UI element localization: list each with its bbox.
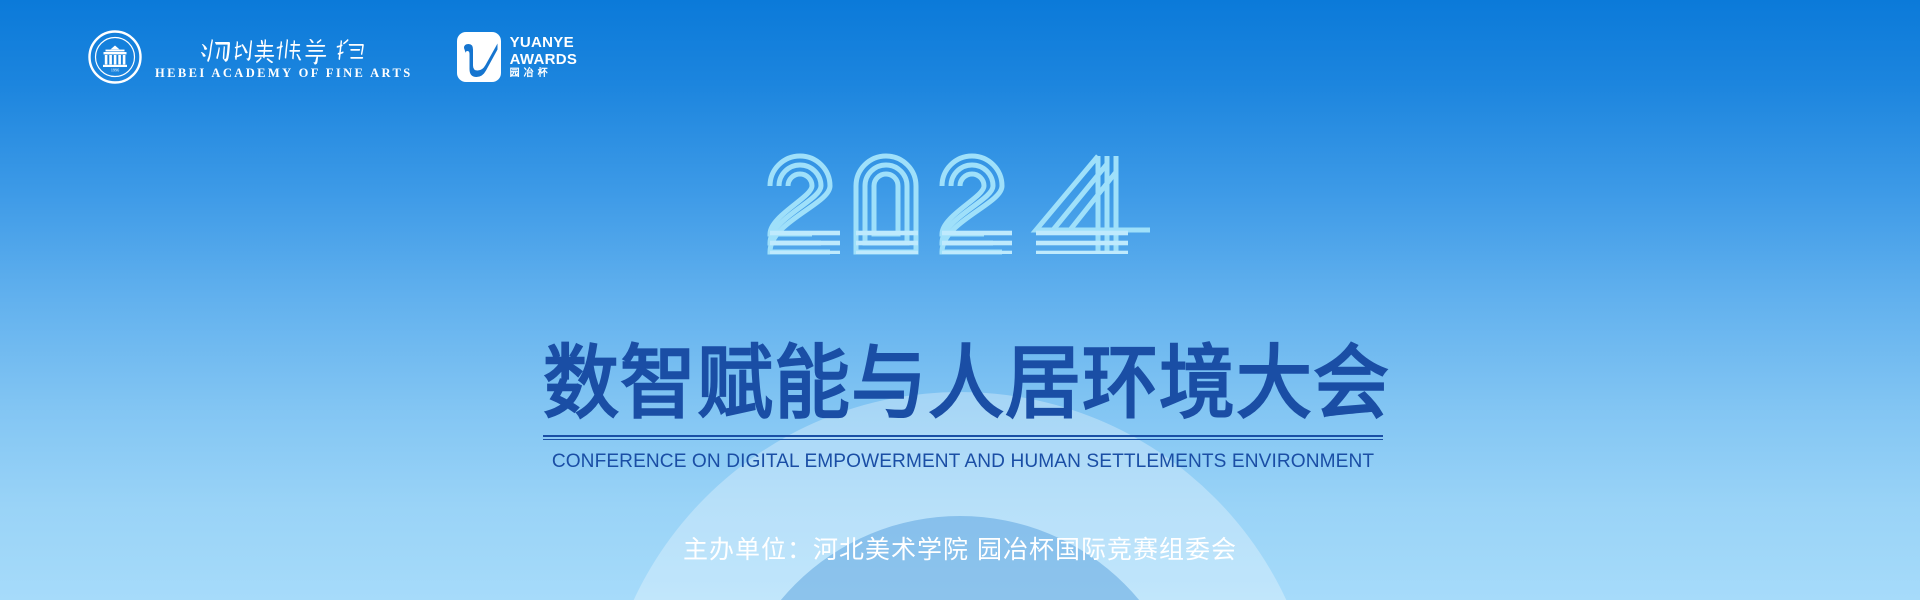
conference-banner: 1996 <box>0 0 1920 600</box>
title-block: 数智赋能与人居环境大会 CONFERENCE ON DIGITAL EMPOWE… <box>543 343 1383 473</box>
year-2024-graphic <box>760 138 1160 298</box>
academy-seal-icon: 1996 <box>88 30 142 84</box>
academy-name-cn-calligraphy <box>155 35 413 65</box>
page-title: 数智赋能与人居环境大会 <box>543 343 1383 425</box>
yuanye-name-line2: AWARDS <box>510 52 578 68</box>
academy-name-block: HEBEI ACADEMY OF FINE ARTS <box>155 35 413 80</box>
yuanye-name-line1: YUANYE <box>510 35 578 51</box>
yuanye-leaf-mark-icon <box>457 32 501 82</box>
academy-logo[interactable]: 1996 <box>88 30 413 84</box>
yuanye-name-cn: 园冶杯 <box>510 69 578 79</box>
organizer-line: 主办单位：河北美术学院 园冶杯国际竞赛组委会 <box>0 530 1920 566</box>
year-2024-icon <box>760 138 1160 298</box>
svg-text:1996: 1996 <box>111 68 119 73</box>
academy-name-en: HEBEI ACADEMY OF FINE ARTS <box>155 67 413 80</box>
yuanye-award-logo[interactable]: YUANYE AWARDS 园冶杯 <box>457 32 578 82</box>
title-divider <box>543 435 1383 440</box>
yuanye-name-block: YUANYE AWARDS 园冶杯 <box>510 35 578 79</box>
page-subtitle: CONFERENCE ON DIGITAL EMPOWERMENT AND HU… <box>549 450 1376 473</box>
logo-row: 1996 <box>88 30 577 84</box>
